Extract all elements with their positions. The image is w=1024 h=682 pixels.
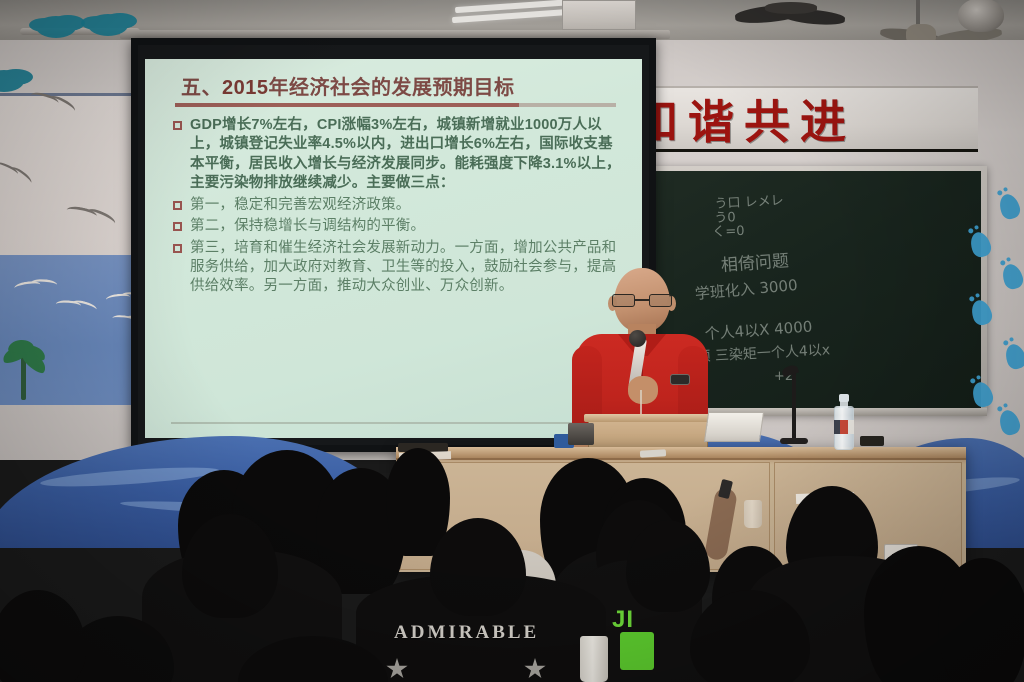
- glasses-icon: [612, 294, 672, 307]
- microphone-stand: [792, 372, 796, 442]
- bullet-square-icon: [173, 201, 182, 210]
- audience-admirable-person-head: [430, 518, 526, 616]
- seagull-painted-2: [55, 300, 95, 319]
- dome-camera-icon: [958, 0, 1004, 32]
- laptop: [704, 412, 764, 442]
- bullet-square-icon: [173, 121, 182, 130]
- slide-title-number: 2015: [222, 77, 269, 99]
- chalk-line-3: く=0: [712, 220, 745, 240]
- audience-cup-3: [744, 500, 762, 528]
- wall-speaker: [562, 0, 636, 30]
- cloud-cutout-1: [36, 16, 76, 38]
- chalk-line-4: 相倚问题: [720, 246, 790, 276]
- bullet-square-icon: [173, 222, 182, 231]
- slide-bullet-2: 第一，稳定和完善宏观经济政策。: [169, 196, 626, 215]
- palm-tree-painted: [2, 338, 48, 400]
- bottle-neck: [840, 401, 848, 408]
- audience-cup-2: [580, 636, 608, 682]
- audience-jacket-text: ADMIRABLE: [394, 622, 539, 644]
- slide-bullet-4: 第三，培育和催生经济社会发展新动力。一方面，增加公共产品和服务供给，加大政府对教…: [169, 239, 626, 297]
- microphone-head-icon: [629, 330, 646, 347]
- slide-title-prefix: 五、: [181, 77, 222, 99]
- ceiling-fan-1: [735, 0, 845, 34]
- audience-raised-arm: [704, 487, 738, 562]
- title-underline: [175, 103, 616, 107]
- banner-text: 和谐共进: [648, 86, 856, 152]
- podium-top: [584, 414, 712, 422]
- slide-bullet-2-text: 第一，稳定和完善宏观经济政策。: [190, 196, 411, 215]
- glasses-bridge: [635, 299, 649, 301]
- slide-title-rest: 年经济社会的发展预期目标: [269, 77, 515, 99]
- slide-bullet-4-text: 第三，培育和催生经济社会发展新动力。一方面，增加公共产品和服务供给，加大政府对教…: [190, 239, 626, 297]
- slide-title: 五、2015年经济社会的发展预期目标: [163, 77, 626, 99]
- wristwatch: [670, 374, 690, 385]
- audience: JI ADMIRABLE: [0, 440, 1024, 682]
- slide-bullet-1-text: GDP增长7%左右，CPI涨幅3%左右，城镇新增就业1000万人以上，城镇登记失…: [190, 116, 626, 194]
- cloud-cutout-2: [88, 14, 128, 36]
- bottle-cap: [839, 394, 849, 402]
- slide-bullet-3: 第二，保持稳增长与调结构的平衡。: [169, 217, 626, 236]
- presenter-hand-right: [628, 376, 658, 404]
- red-wall-banner: 和谐共进: [648, 86, 978, 152]
- audience-green-tee-text: JI: [612, 606, 634, 634]
- lecture-hall-scene: 和谐共进 う口 レメレ う0 く=0 相倚问题 学班化入 3000 个人4以X …: [0, 0, 1024, 682]
- slide-bullet-3-text: 第二，保持稳增长与调结构的平衡。: [190, 217, 425, 236]
- chalk-line-6: 个人4以X 4000: [704, 315, 813, 343]
- bullet-square-icon: [173, 244, 182, 253]
- glasses-lens-right: [649, 294, 672, 307]
- audience-green-tee-block: [620, 632, 654, 670]
- audience-person-14: [938, 558, 1024, 682]
- audience-person-17-head: [0, 590, 86, 682]
- slide-body: GDP增长7%左右，CPI涨幅3%左右，城镇新增就业1000万人以上，城镇登记失…: [163, 116, 626, 297]
- audience-person-9-head: [626, 520, 710, 612]
- glasses-lens-left: [612, 294, 635, 307]
- wall-trim-line: [0, 93, 150, 96]
- slide-bullet-1: GDP增长7%左右，CPI涨幅3%左右，城镇新增就业1000万人以上，城镇登记失…: [169, 116, 626, 194]
- bottle-label: [834, 420, 854, 434]
